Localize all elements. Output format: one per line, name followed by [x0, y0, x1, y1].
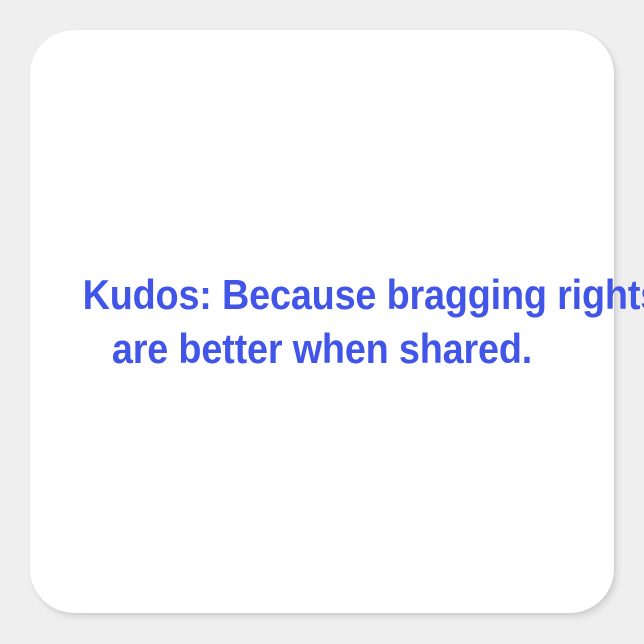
caption-line-2: are better when shared.	[83, 322, 562, 376]
square-sticker[interactable]: Kudos: Because bragging rights are bette…	[30, 30, 614, 613]
sticker-preview-canvas: Kudos: Because bragging rights are bette…	[0, 0, 644, 644]
sticker-caption: Kudos: Because bragging rights are bette…	[30, 268, 614, 376]
caption-line-1: Kudos: Because bragging rights	[83, 268, 562, 322]
